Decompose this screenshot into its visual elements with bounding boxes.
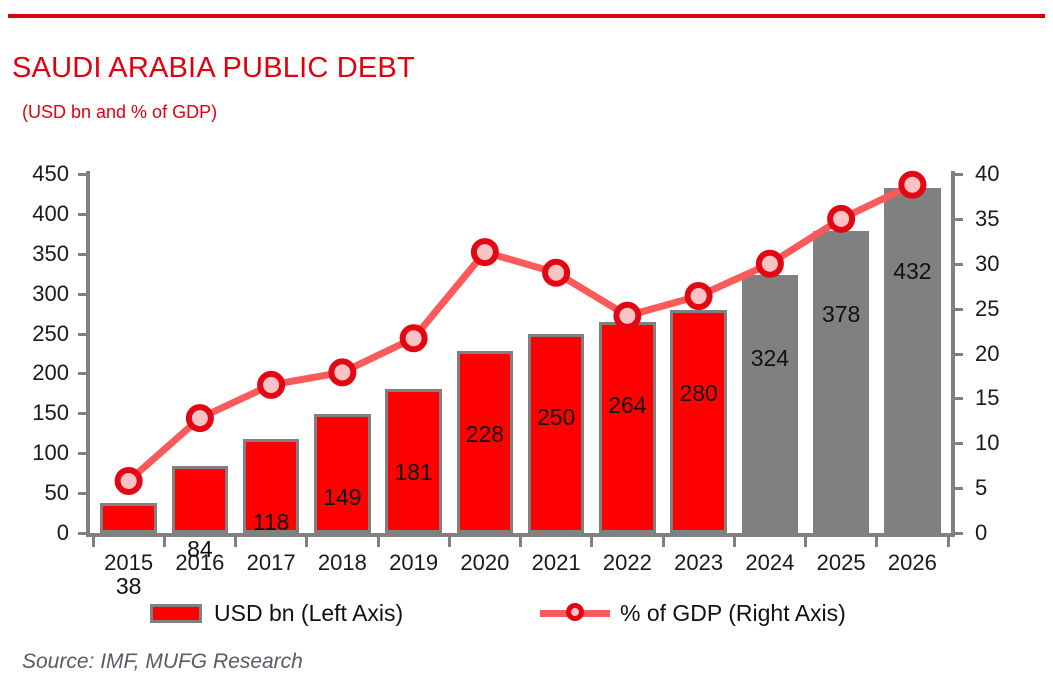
right-axis-tick-label: 30 xyxy=(975,253,1045,275)
right-tick xyxy=(955,173,963,176)
bar-value-label: 280 xyxy=(663,382,734,405)
left-axis-tick-label: 400 xyxy=(0,203,69,225)
bar-value-label: 118 xyxy=(236,511,307,534)
x-tick xyxy=(92,537,95,547)
x-tick xyxy=(519,537,522,547)
right-tick xyxy=(955,308,963,311)
x-axis-tick-label: 2020 xyxy=(449,552,520,574)
right-axis-tick-label: 15 xyxy=(975,387,1045,409)
left-tick xyxy=(78,293,86,296)
bar-value-label: 84 xyxy=(164,538,235,561)
x-tick xyxy=(377,537,380,547)
right-tick xyxy=(955,218,963,221)
x-axis-tick-label: 2023 xyxy=(663,552,734,574)
bar[interactable] xyxy=(100,503,156,533)
bar-value-label: 432 xyxy=(877,260,948,283)
legend-item-usd-bn[interactable]: USD bn (Left Axis) xyxy=(150,595,403,631)
bar-value-label: 149 xyxy=(307,486,378,509)
gdp-line-marker[interactable] xyxy=(260,374,282,396)
right-tick xyxy=(955,442,963,445)
gdp-line-marker[interactable] xyxy=(830,208,852,230)
bar[interactable] xyxy=(599,322,655,533)
left-tick xyxy=(78,492,86,495)
left-axis-tick-label: 150 xyxy=(0,402,69,424)
bar[interactable] xyxy=(813,231,869,533)
left-tick xyxy=(78,412,86,415)
left-axis-tick-label: 300 xyxy=(0,283,69,305)
chart-legend: USD bn (Left Axis) % of GDP (Right Axis) xyxy=(140,595,900,631)
right-axis-tick-label: 25 xyxy=(975,298,1045,320)
bar[interactable] xyxy=(742,275,798,533)
bar-value-label: 228 xyxy=(449,423,520,446)
x-tick xyxy=(875,537,878,547)
page-subtitle: (USD bn and % of GDP) xyxy=(22,102,217,123)
x-tick xyxy=(448,537,451,547)
bar[interactable] xyxy=(528,334,584,533)
right-axis-tick-label: 10 xyxy=(975,432,1045,454)
page-title: SAUDI ARABIA PUBLIC DEBT xyxy=(12,52,415,85)
left-axis-line xyxy=(86,171,90,536)
x-axis-tick-label: 2025 xyxy=(806,552,877,574)
legend-line-marker-icon xyxy=(540,602,610,624)
x-tick xyxy=(662,537,665,547)
legend-bar-swatch-icon xyxy=(150,604,202,623)
right-tick xyxy=(955,532,963,535)
right-tick xyxy=(955,263,963,266)
gdp-line-marker[interactable] xyxy=(759,253,781,275)
right-tick xyxy=(955,487,963,490)
x-axis-tick-label: 2021 xyxy=(521,552,592,574)
left-tick xyxy=(78,213,86,216)
bar-value-label: 250 xyxy=(521,406,592,429)
source-note: Source: IMF, MUFG Research xyxy=(22,650,303,674)
left-tick xyxy=(78,452,86,455)
bar-value-label: 378 xyxy=(806,303,877,326)
x-axis-tick-label: 2026 xyxy=(877,552,948,574)
x-axis-tick-label: 2015 xyxy=(93,552,164,574)
legend-line-label: % of GDP (Right Axis) xyxy=(620,600,846,627)
left-axis-tick-label: 100 xyxy=(0,442,69,464)
legend-bar-label: USD bn (Left Axis) xyxy=(214,600,403,627)
bar-value-label: 264 xyxy=(592,394,663,417)
gdp-line-marker[interactable] xyxy=(688,285,710,307)
x-tick xyxy=(590,537,593,547)
right-axis-tick-label: 20 xyxy=(975,343,1045,365)
x-axis-tick-label: 2017 xyxy=(236,552,307,574)
bar[interactable] xyxy=(172,466,228,533)
plot-area: 050100150200250300350400450 051015202530… xyxy=(93,174,948,533)
x-axis-tick-label: 2018 xyxy=(307,552,378,574)
bar-value-label: 324 xyxy=(734,347,805,370)
header-rule xyxy=(8,14,1045,18)
x-axis-tick-label: 2019 xyxy=(378,552,449,574)
right-tick xyxy=(955,353,963,356)
left-tick xyxy=(78,253,86,256)
gdp-line-marker[interactable] xyxy=(474,241,496,263)
gdp-line-marker[interactable] xyxy=(118,470,140,492)
right-axis-tick-label: 35 xyxy=(975,208,1045,230)
gdp-line-marker[interactable] xyxy=(331,361,353,383)
x-tick xyxy=(804,537,807,547)
bar[interactable] xyxy=(314,414,370,533)
chart-page: SAUDI ARABIA PUBLIC DEBT (USD bn and % o… xyxy=(0,0,1053,692)
left-axis-tick-label: 450 xyxy=(0,163,69,185)
left-axis-tick-label: 200 xyxy=(0,362,69,384)
left-axis-tick-label: 0 xyxy=(0,522,69,544)
gdp-line-marker[interactable] xyxy=(189,407,211,429)
left-axis-tick-label: 350 xyxy=(0,243,69,265)
right-axis-tick-label: 0 xyxy=(975,522,1045,544)
bar[interactable] xyxy=(884,188,940,533)
left-axis-tick-label: 250 xyxy=(0,323,69,345)
right-tick xyxy=(955,397,963,400)
right-axis-tick-label: 40 xyxy=(975,163,1045,185)
left-tick xyxy=(78,532,86,535)
legend-item-pct-gdp[interactable]: % of GDP (Right Axis) xyxy=(540,595,846,631)
left-tick xyxy=(78,333,86,336)
gdp-line-marker[interactable] xyxy=(403,327,425,349)
left-tick xyxy=(78,173,86,176)
x-axis-tick-label: 2024 xyxy=(734,552,805,574)
left-tick xyxy=(78,372,86,375)
x-tick xyxy=(733,537,736,547)
x-tick xyxy=(947,537,950,547)
left-axis-tick-label: 50 xyxy=(0,482,69,504)
gdp-line-marker[interactable] xyxy=(545,262,567,284)
bar-value-label: 181 xyxy=(378,461,449,484)
x-axis-tick-label: 2022 xyxy=(592,552,663,574)
bar[interactable] xyxy=(670,310,726,533)
right-axis-tick-label: 5 xyxy=(975,477,1045,499)
x-tick xyxy=(305,537,308,547)
